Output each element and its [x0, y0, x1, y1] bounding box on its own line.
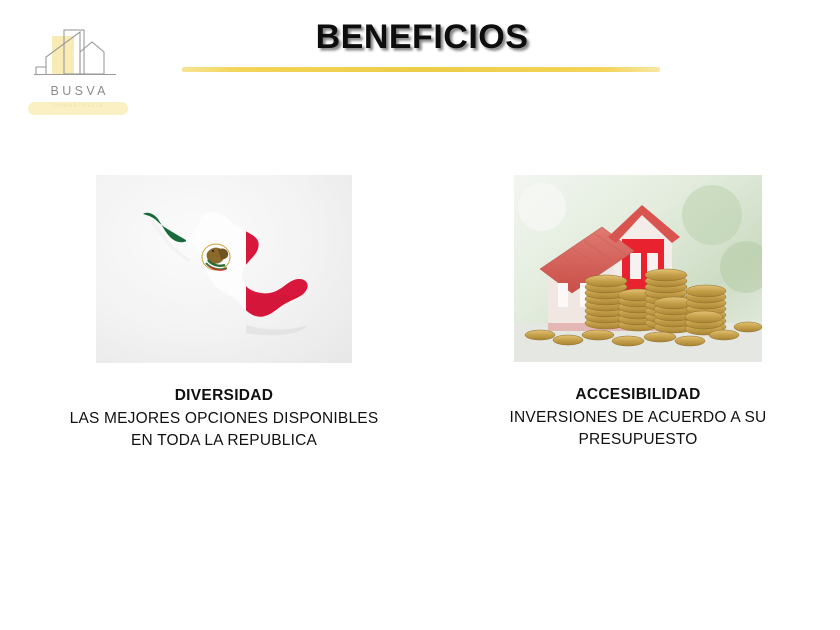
slide-beneficios: BUSVA Inmobiliaria BENEFICIOS — [0, 0, 840, 630]
benefit-caption-diversidad: DIVERSIDAD LAS MEJORES OPCIONES DISPONIB… — [14, 385, 434, 452]
logo-subtitle-highlight: Inmobiliaria — [28, 102, 128, 115]
benefit-description-line-1: INVERSIONES DE ACUERDO A SU — [448, 407, 828, 429]
mexico-map-flag-image — [96, 175, 352, 363]
benefit-description-line-1: LAS MEJORES OPCIONES DISPONIBLES — [14, 408, 434, 430]
logo-wordmark: BUSVA — [26, 84, 130, 98]
benefit-description-line-2: EN TODA LA REPUBLICA — [14, 430, 434, 452]
benefit-heading: ACCESIBILIDAD — [448, 384, 828, 406]
logo-subtitle: Inmobiliaria — [28, 103, 128, 109]
house-coins-image — [514, 175, 762, 362]
benefit-heading: DIVERSIDAD — [14, 385, 434, 407]
brand-logo: BUSVA Inmobiliaria — [26, 24, 130, 120]
benefit-column-diversidad: DIVERSIDAD LAS MEJORES OPCIONES DISPONIB… — [14, 175, 434, 452]
benefit-description-line-2: PRESUPUESTO — [448, 429, 828, 451]
benefit-caption-accesibilidad: ACCESIBILIDAD INVERSIONES DE ACUERDO A S… — [448, 384, 828, 451]
title-underline-rule — [182, 67, 660, 72]
page-title: BENEFICIOS — [180, 18, 664, 57]
buildings-outline-icon — [26, 24, 130, 86]
benefit-column-accesibilidad: ACCESIBILIDAD INVERSIONES DE ACUERDO A S… — [448, 175, 828, 451]
